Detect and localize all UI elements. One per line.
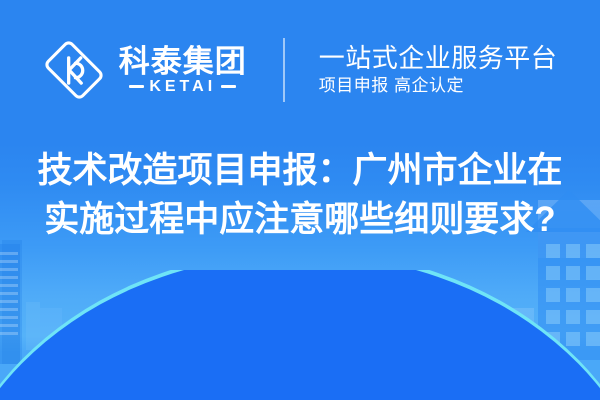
banner-header: 科泰集团 KETAI 一站式企业服务平台 项目申报 高企认定: [0, 0, 600, 140]
arc-fill: [0, 270, 600, 400]
page-title-line-1: 技术改造项目申报：广州市企业在: [30, 146, 570, 195]
brand-logo[interactable]: 科泰集团 KETAI 一站式企业服务平台 项目申报 高企认定: [43, 38, 558, 102]
page-title: 技术改造项目申报：广州市企业在 实施过程中应注意哪些细则要求?: [0, 146, 600, 244]
header-tagline: 一站式企业服务平台 项目申报 高企认定: [319, 45, 558, 95]
page-title-line-2: 实施过程中应注意哪些细则要求?: [30, 195, 570, 244]
dash-right-icon: [221, 85, 236, 88]
ketai-diamond-logo-icon: [43, 39, 105, 101]
header-divider: [283, 38, 285, 102]
tagline-main: 一站式企业服务平台: [319, 45, 558, 72]
brand-name-cn: 科泰集团: [119, 46, 247, 77]
promo-banner: 科泰集团 KETAI 一站式企业服务平台 项目申报 高企认定 技术改造项目申报：…: [0, 0, 600, 400]
bottom-arc-decoration: [0, 270, 600, 400]
tagline-sub: 项目申报 高企认定: [319, 77, 558, 95]
brand-name-en-row: KETAI: [119, 79, 247, 95]
brand-name-en: KETAI: [149, 79, 216, 95]
brand-wordmark: 科泰集团 KETAI: [119, 46, 247, 95]
dash-left-icon: [129, 85, 144, 88]
